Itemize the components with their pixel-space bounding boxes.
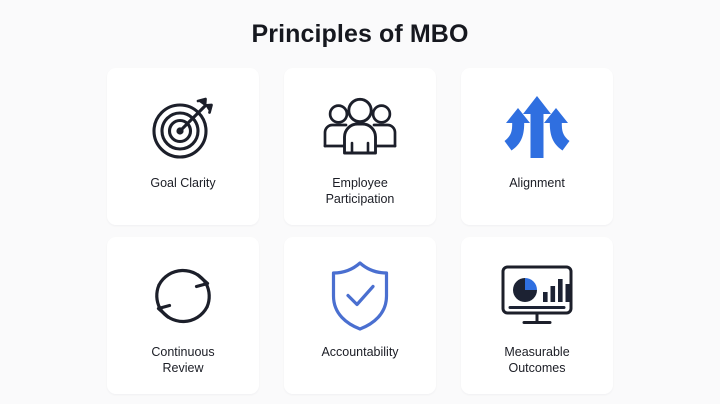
principle-card-accountability[interactable]: Accountability	[284, 237, 436, 394]
circular-arrows-icon	[144, 257, 222, 335]
slide-canvas: Principles of MBO Goal Clarity	[0, 0, 720, 404]
people-group-icon	[321, 88, 399, 166]
card-label: Goal Clarity	[144, 175, 221, 191]
principles-grid: Goal Clarity	[107, 68, 613, 394]
principle-card-employee-participation[interactable]: Employee Participation	[284, 68, 436, 225]
target-arrow-icon	[144, 88, 222, 166]
principle-card-alignment[interactable]: Alignment	[461, 68, 613, 225]
principle-card-goal-clarity[interactable]: Goal Clarity	[107, 68, 259, 225]
card-label: Measurable Outcomes	[498, 344, 575, 376]
card-label: Employee Participation	[320, 175, 401, 207]
three-up-arrows-icon	[498, 88, 576, 166]
monitor-charts-icon	[498, 257, 576, 335]
principle-card-continuous-review[interactable]: Continuous Review	[107, 237, 259, 394]
card-label: Continuous Review	[145, 344, 220, 376]
card-label: Alignment	[503, 175, 571, 191]
shield-check-icon	[321, 257, 399, 335]
principle-card-measurable-outcomes[interactable]: Measurable Outcomes	[461, 237, 613, 394]
page-title: Principles of MBO	[0, 20, 720, 49]
card-label: Accountability	[315, 344, 404, 360]
